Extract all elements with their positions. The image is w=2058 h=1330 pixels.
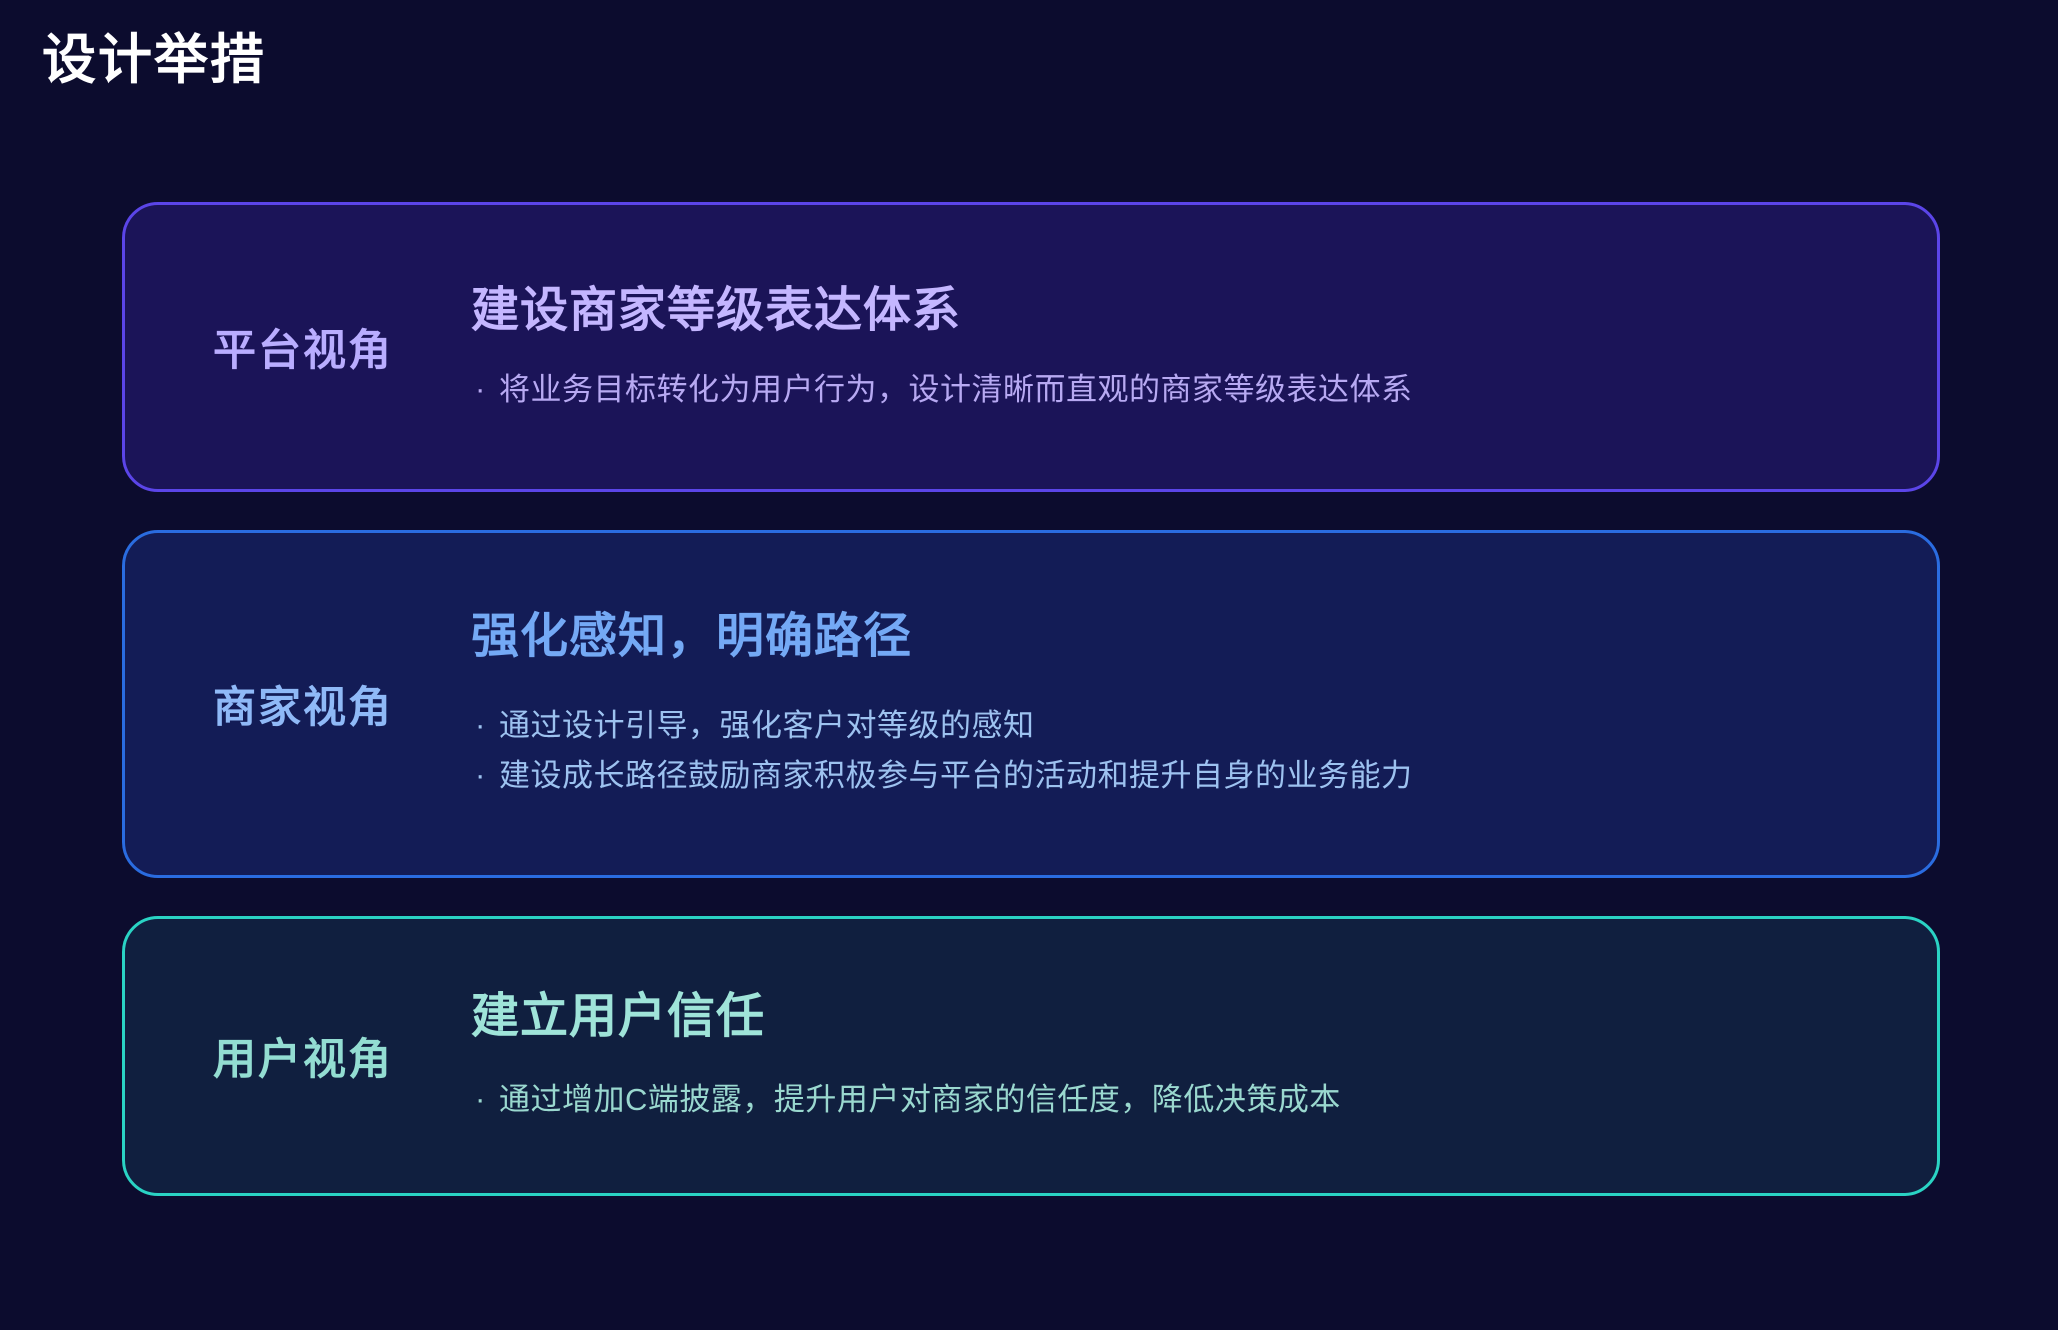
card-body-merchant: 强化感知，明确路径 通过设计引导，强化客户对等级的感知 建设成长路径鼓励商家积极… bbox=[455, 607, 1937, 801]
card-body-platform: 建设商家等级表达体系 将业务目标转化为用户行为，设计清晰而直观的商家等级表达体系 bbox=[455, 279, 1937, 415]
card-bullets-merchant: 通过设计引导，强化客户对等级的感知 建设成长路径鼓励商家积极参与平台的活动和提升… bbox=[471, 701, 1867, 801]
card-bullets-platform: 将业务目标转化为用户行为，设计清晰而直观的商家等级表达体系 bbox=[471, 365, 1867, 415]
bullet-item: 通过增加C端披露，提升用户对商家的信任度，降低决策成本 bbox=[471, 1075, 1867, 1125]
bullet-item: 建设成长路径鼓励商家积极参与平台的活动和提升自身的业务能力 bbox=[471, 751, 1867, 801]
card-heading-user: 建立用户信任 bbox=[471, 987, 1867, 1047]
page-title: 设计举措 bbox=[42, 28, 266, 93]
slide-canvas: 设计举措 平台视角 建设商家等级表达体系 将业务目标转化为用户行为，设计清晰而直… bbox=[0, 0, 2058, 1330]
card-body-user: 建立用户信任 通过增加C端披露，提升用户对商家的信任度，降低决策成本 bbox=[455, 987, 1937, 1125]
bullet-item: 通过设计引导，强化客户对等级的感知 bbox=[471, 701, 1867, 751]
perspective-card-list: 平台视角 建设商家等级表达体系 将业务目标转化为用户行为，设计清晰而直观的商家等… bbox=[122, 202, 1940, 1196]
card-bullets-user: 通过增加C端披露，提升用户对商家的信任度，降低决策成本 bbox=[471, 1075, 1867, 1125]
card-label-merchant: 商家视角 bbox=[125, 673, 455, 735]
card-heading-merchant: 强化感知，明确路径 bbox=[471, 607, 1867, 667]
perspective-card-platform[interactable]: 平台视角 建设商家等级表达体系 将业务目标转化为用户行为，设计清晰而直观的商家等… bbox=[122, 202, 1940, 492]
perspective-card-user[interactable]: 用户视角 建立用户信任 通过增加C端披露，提升用户对商家的信任度，降低决策成本 bbox=[122, 916, 1940, 1196]
card-label-user: 用户视角 bbox=[125, 1025, 455, 1087]
perspective-card-merchant[interactable]: 商家视角 强化感知，明确路径 通过设计引导，强化客户对等级的感知 建设成长路径鼓… bbox=[122, 530, 1940, 878]
bullet-item: 将业务目标转化为用户行为，设计清晰而直观的商家等级表达体系 bbox=[471, 365, 1867, 415]
card-label-platform: 平台视角 bbox=[125, 316, 455, 378]
card-heading-platform: 建设商家等级表达体系 bbox=[471, 281, 1867, 341]
